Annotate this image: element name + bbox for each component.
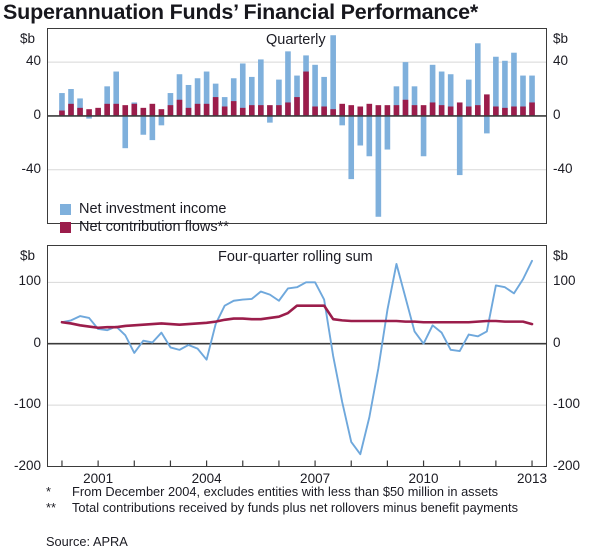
lower-ytick-right-0: 0 [553,335,561,350]
upper-ytick-left-0: 0 [0,107,41,122]
upper-ytick-right--40: -40 [553,161,573,176]
upper-ytick-left--40: -40 [0,161,41,176]
lower-ytick-right-100: 100 [553,273,576,288]
upper-ytick-right-40: 40 [553,53,568,68]
footnote-1: * From December 2004, excludes entities … [46,484,596,500]
upper-ytick-right-0: 0 [553,107,561,122]
legend-item-investment: Net investment income [60,200,229,218]
lower-ytick-left-0: 0 [0,335,41,350]
lower-ytick-left--200: -200 [0,458,41,473]
upper-panel-ylabel-left: $b [20,31,35,46]
lower-panel-ylabel-left: $b [20,248,35,263]
lower-ytick-right--200: -200 [553,458,580,473]
rolling-sum-line-chart [47,245,547,467]
footnote-2: ** Total contributions received by funds… [46,500,596,516]
footnote-2-text: Total contributions received by funds pl… [72,500,596,516]
footnote-1-marker: * [46,484,72,500]
upper-ytick-left-40: 40 [0,53,41,68]
lower-ytick-left-100: 100 [0,273,41,288]
footnote-2-marker: ** [46,500,72,516]
legend-label-contribution: Net contribution flows** [79,219,229,235]
lower-ytick-left--100: -100 [0,396,41,411]
page-title: Superannuation Funds’ Financial Performa… [3,0,597,25]
upper-panel-ylabel-right: $b [553,31,568,46]
lower-ytick-right--100: -100 [553,396,580,411]
chart-legend: Net investment income Net contribution f… [60,200,229,236]
chart-container: Superannuation Funds’ Financial Performa… [0,0,600,559]
legend-swatch-contribution [60,222,71,233]
quarterly-bar-chart [47,28,547,224]
legend-label-investment: Net investment income [79,201,226,217]
lower-panel-ylabel-right: $b [553,248,568,263]
legend-item-contribution: Net contribution flows** [60,218,229,236]
footnote-1-text: From December 2004, excludes entities wi… [72,484,596,500]
footnotes: * From December 2004, excludes entities … [46,484,596,515]
source-note: Source: APRA [46,534,128,549]
legend-swatch-investment [60,204,71,215]
